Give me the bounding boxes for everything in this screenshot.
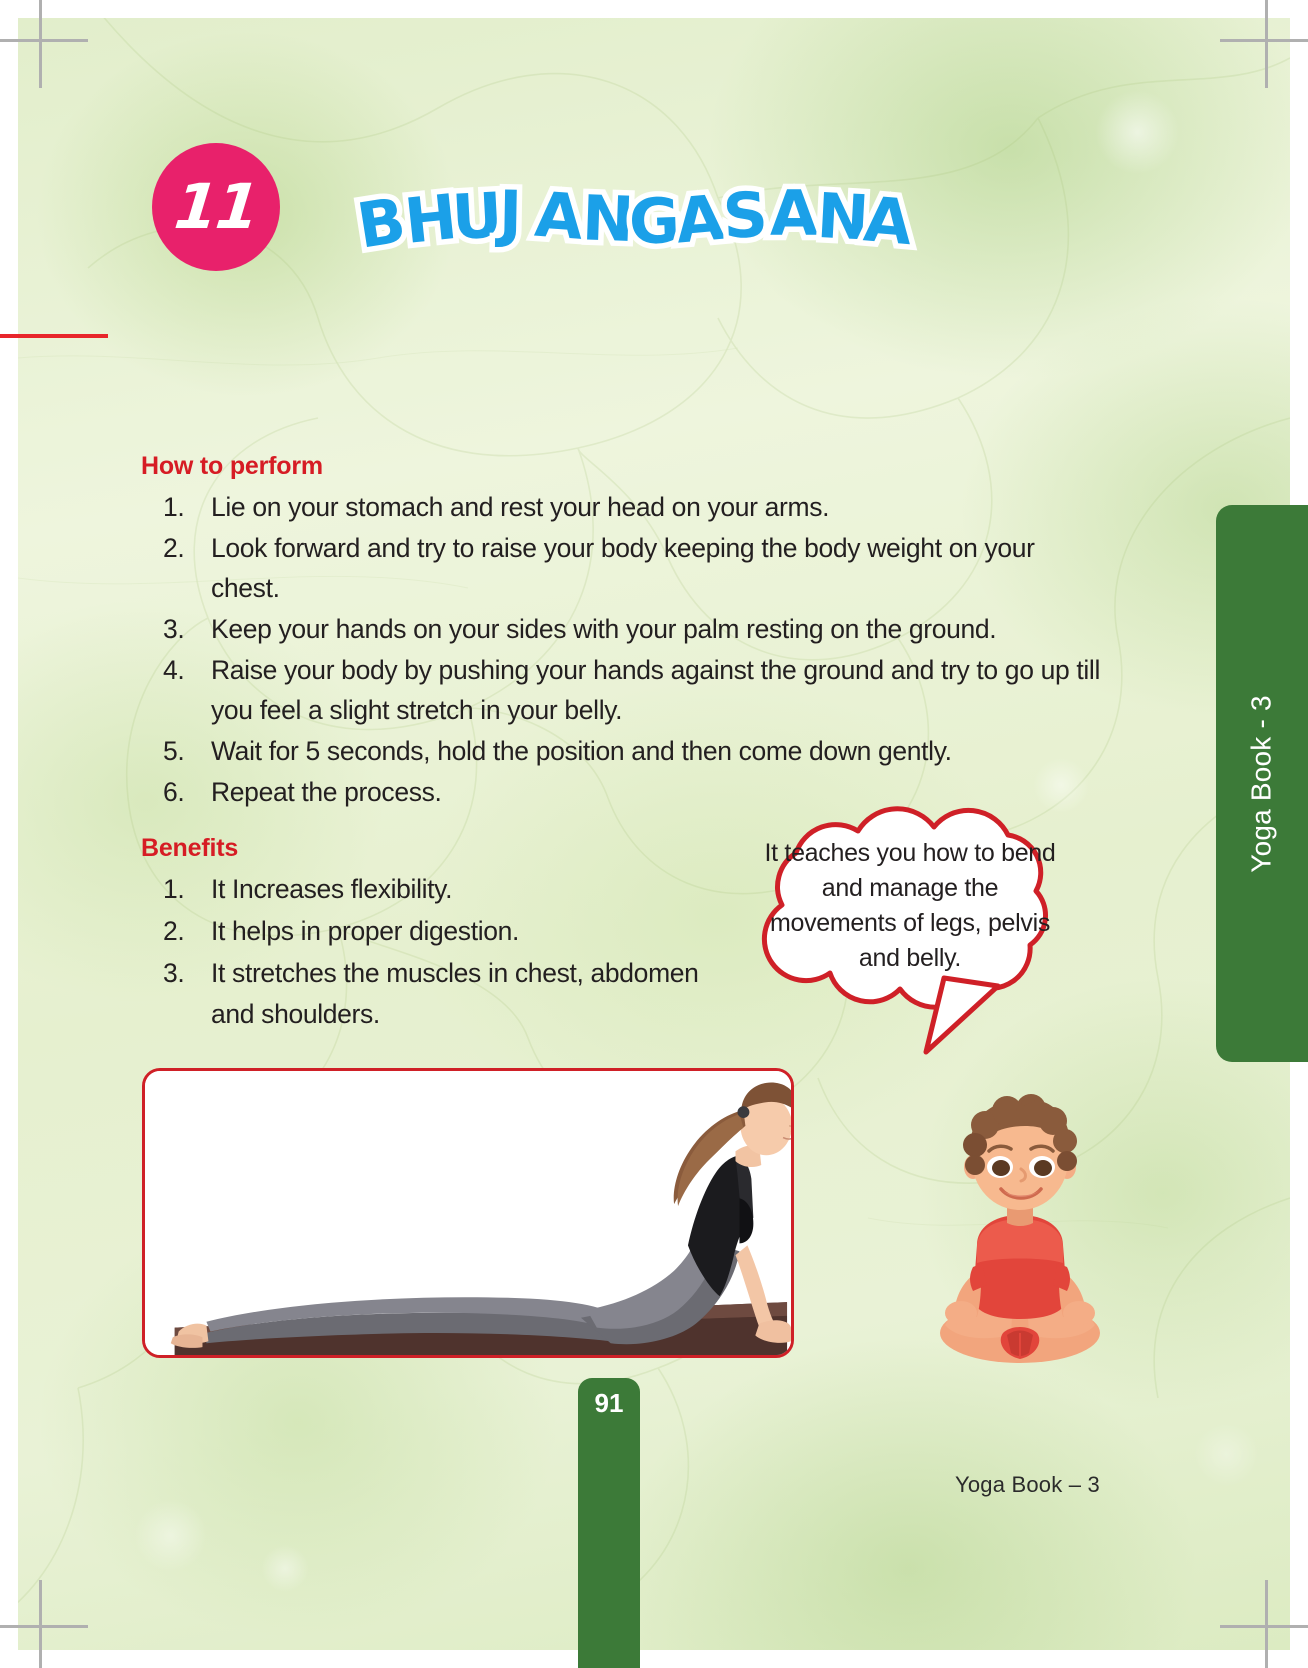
crop-mark-top-right-h [1220, 39, 1308, 42]
title-letter: J [494, 177, 523, 250]
step-item-text: Look forward and try to raise your body … [211, 533, 1035, 603]
book-page: 11 BHUJANGASANA How to perform 1.Lie on … [0, 0, 1308, 1668]
page-title: BHUJANGASANA [352, 155, 962, 275]
title-letter: A [770, 177, 819, 250]
crop-mark-top-left-h [0, 39, 88, 42]
speech-bubble-text: It teaches you how to bend and manage th… [762, 836, 1058, 976]
title-letter: U [450, 178, 505, 254]
crop-mark-top-left-v [39, 0, 42, 88]
crop-mark-bottom-left-v [39, 1580, 42, 1668]
how-to-perform-heading: How to perform [141, 452, 1101, 481]
registration-mark-left [0, 334, 108, 338]
chapter-number-badge: 11 [152, 143, 280, 271]
cartoon-boy-illustration [925, 1085, 1115, 1370]
speech-bubble: It teaches you how to bend and manage th… [730, 800, 1090, 1010]
step-item-number: 3. [163, 609, 203, 649]
title-letter: S [721, 178, 770, 253]
step-item-text: Wait for 5 seconds, hold the position an… [211, 736, 952, 766]
step-item: 1.Lie on your stomach and rest your head… [163, 487, 1101, 527]
page-number-tab: 91 [578, 1378, 640, 1668]
step-item: 2.Look forward and try to raise your bod… [163, 528, 1101, 608]
side-tab-label: Yoga Book - 3 [1246, 695, 1278, 872]
crop-mark-bottom-left-h [0, 1625, 88, 1628]
benefit-item: 3.It stretches the muscles in chest, abd… [163, 953, 741, 1035]
step-item-text: Repeat the process. [211, 777, 442, 807]
crop-mark-top-right-v [1265, 0, 1268, 88]
step-item-text: Lie on your stomach and rest your head o… [211, 492, 829, 522]
benefit-item-number: 2. [163, 911, 203, 952]
step-item-number: 1. [163, 487, 203, 527]
footer-book-label: Yoga Book – 3 [955, 1472, 1100, 1498]
crop-mark-bottom-right-h [1220, 1625, 1308, 1628]
step-item: 5.Wait for 5 seconds, hold the position … [163, 731, 1101, 771]
step-item: 4.Raise your body by pushing your hands … [163, 650, 1101, 730]
title-letter: A [533, 178, 587, 254]
benefit-item-text: It Increases flexibility. [211, 874, 452, 904]
step-item-number: 2. [163, 528, 203, 568]
pose-photo [142, 1068, 794, 1358]
step-item-text: Raise your body by pushing your hands ag… [211, 655, 1100, 725]
step-item: 3.Keep your hands on your sides with you… [163, 609, 1101, 649]
crop-mark-bottom-right-v [1265, 1580, 1268, 1668]
benefit-item-text: It stretches the muscles in chest, abdom… [211, 958, 699, 1029]
benefit-item-text: It helps in proper digestion. [211, 916, 519, 946]
step-item-number: 5. [163, 731, 203, 771]
benefit-item-number: 3. [163, 953, 203, 994]
how-to-perform-block: How to perform 1.Lie on your stomach and… [141, 452, 1101, 812]
chapter-number: 11 [172, 176, 261, 238]
benefits-list: 1.It Increases flexibility.2.It helps in… [163, 869, 741, 1035]
benefit-item: 2.It helps in proper digestion. [163, 911, 741, 952]
benefit-item-number: 1. [163, 869, 203, 910]
step-item-number: 6. [163, 772, 203, 812]
title-letter: A [861, 182, 916, 259]
step-item-number: 4. [163, 650, 203, 690]
benefits-block: Benefits 1.It Increases flexibility.2.It… [141, 834, 741, 1035]
step-item-text: Keep your hands on your sides with your … [211, 614, 996, 644]
how-to-perform-list: 1.Lie on your stomach and rest your head… [163, 487, 1101, 812]
side-tab-book-label: Yoga Book - 3 [1216, 505, 1308, 1062]
benefit-item: 1.It Increases flexibility. [163, 869, 741, 910]
benefits-heading: Benefits [141, 834, 741, 863]
page-number: 91 [595, 1388, 624, 1668]
title-letter: A [673, 181, 728, 258]
